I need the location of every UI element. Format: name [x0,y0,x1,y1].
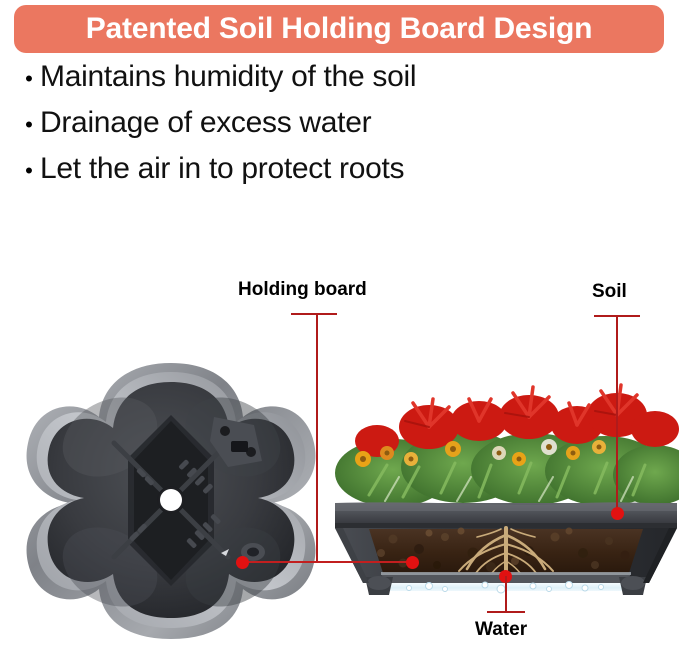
leader-connector-holding-board [242,561,414,563]
leader-line-soil [616,315,618,515]
planter-cutaway-image [333,325,679,595]
feature-text: Drainage of excess water [40,108,371,138]
callout-label-soil: Soil [592,282,627,301]
feature-text: Let the air in to protect roots [40,154,404,184]
bullet-icon: • [18,114,40,136]
leader-cap-holding-board [291,313,337,315]
leader-line-water [505,576,507,612]
product-diagram: Holding board Soil Water [0,250,679,651]
leader-dot-board-left [236,556,249,569]
bullet-icon: • [18,68,40,90]
leader-dot-soil [611,507,624,520]
bullet-icon: • [18,160,40,182]
leader-dot-board-right [406,556,419,569]
leader-cap-water [487,611,525,613]
list-item: • Maintains humidity of the soil [18,62,618,108]
header-banner: Patented Soil Holding Board Design [14,5,664,53]
soil-holding-board-image [18,355,324,645]
leader-line-holding-board [316,313,318,562]
center-drain-hole [160,489,182,511]
callout-label-water: Water [475,620,527,639]
page-title: Patented Soil Holding Board Design [86,14,593,44]
callout-label-holding-board: Holding board [238,280,367,299]
list-item: • Let the air in to protect roots [18,154,618,200]
feature-list: • Maintains humidity of the soil • Drain… [18,62,618,200]
list-item: • Drainage of excess water [18,108,618,154]
feature-text: Maintains humidity of the soil [40,62,416,92]
